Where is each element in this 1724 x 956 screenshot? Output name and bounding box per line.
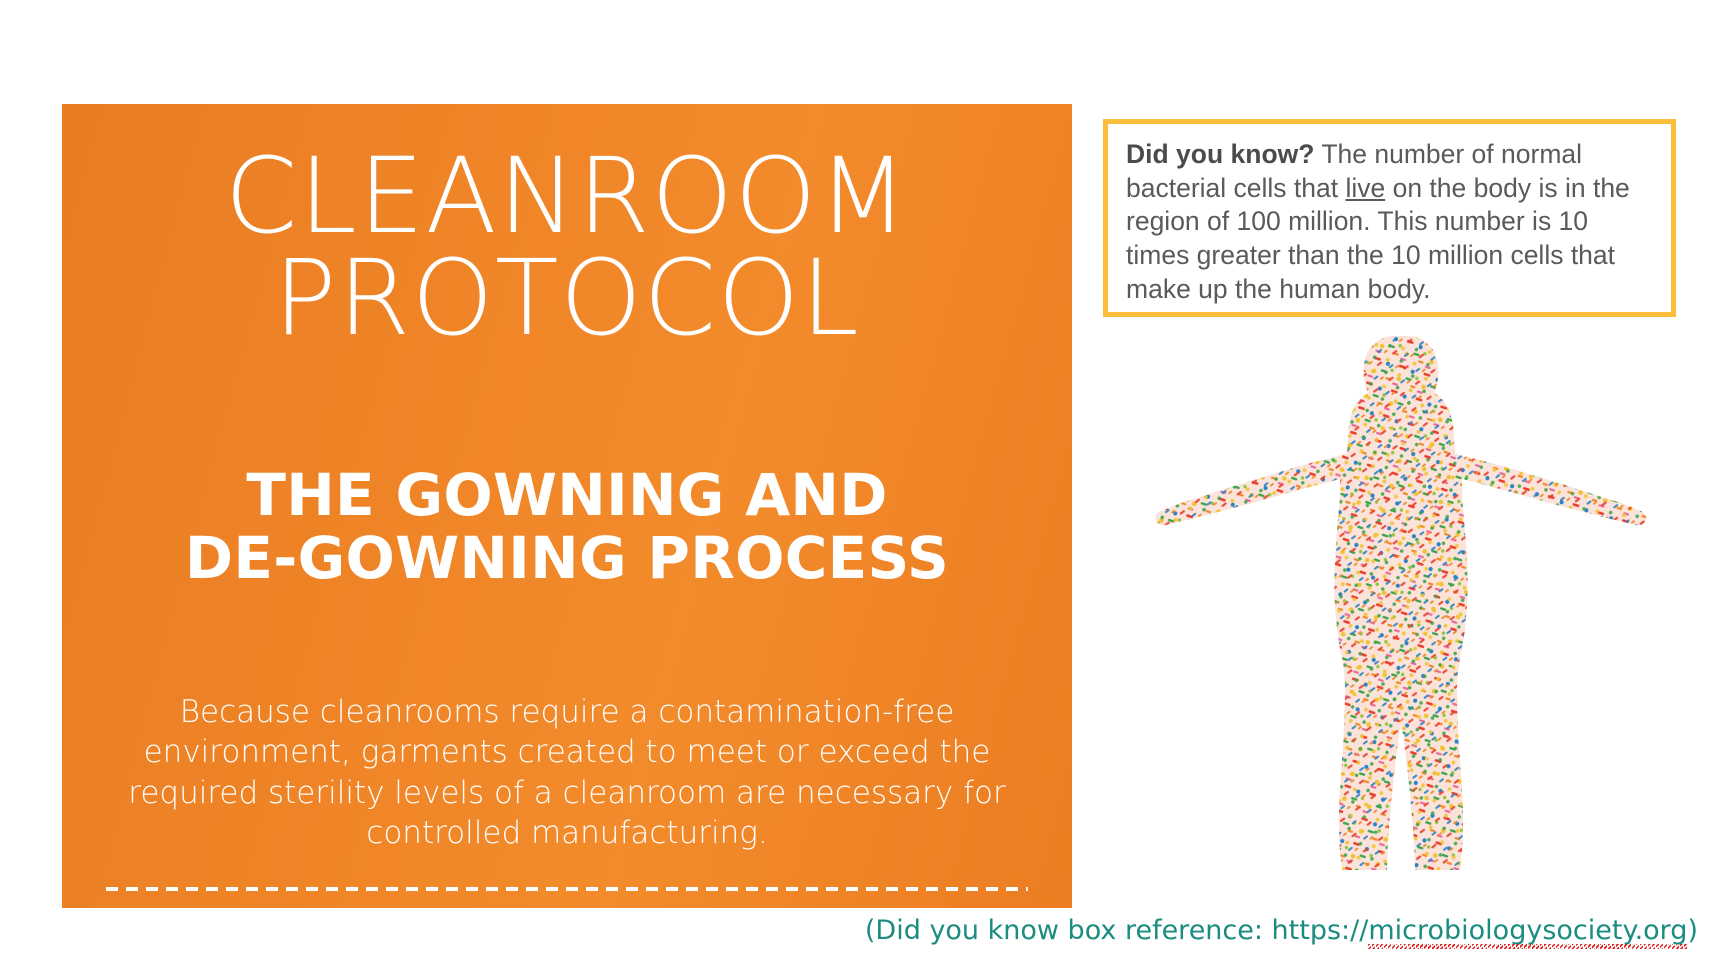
orange-title-panel: CLEANROOM PROTOCOL THE GOWNING AND DE-GO… [62, 104, 1072, 908]
did-you-know-text: Did you know? The number of normal bacte… [1126, 138, 1653, 306]
panel-body-text: Because cleanrooms require a contaminati… [110, 692, 1024, 853]
reference-prefix: (Did you know box reference: https:// [865, 915, 1368, 946]
page-title: CLEANROOM PROTOCOL [62, 146, 1072, 350]
reference-caption: (Did you know box reference: https://mic… [0, 915, 1698, 946]
bacteria-human-figure [1135, 330, 1655, 870]
reference-suffix: ) [1687, 915, 1698, 946]
human-silhouette-icon [1135, 330, 1655, 870]
dashed-divider [106, 887, 1028, 891]
reference-url[interactable]: microbiologysociety.org [1368, 915, 1687, 946]
did-you-know-lead-in: Did you know? [1126, 139, 1314, 169]
page-subtitle: THE GOWNING AND DE-GOWNING PROCESS [62, 464, 1072, 589]
did-you-know-callout: Did you know? The number of normal bacte… [1103, 119, 1676, 317]
did-you-know-underlined-word: live [1345, 173, 1385, 203]
slide-canvas: CLEANROOM PROTOCOL THE GOWNING AND DE-GO… [0, 0, 1724, 956]
